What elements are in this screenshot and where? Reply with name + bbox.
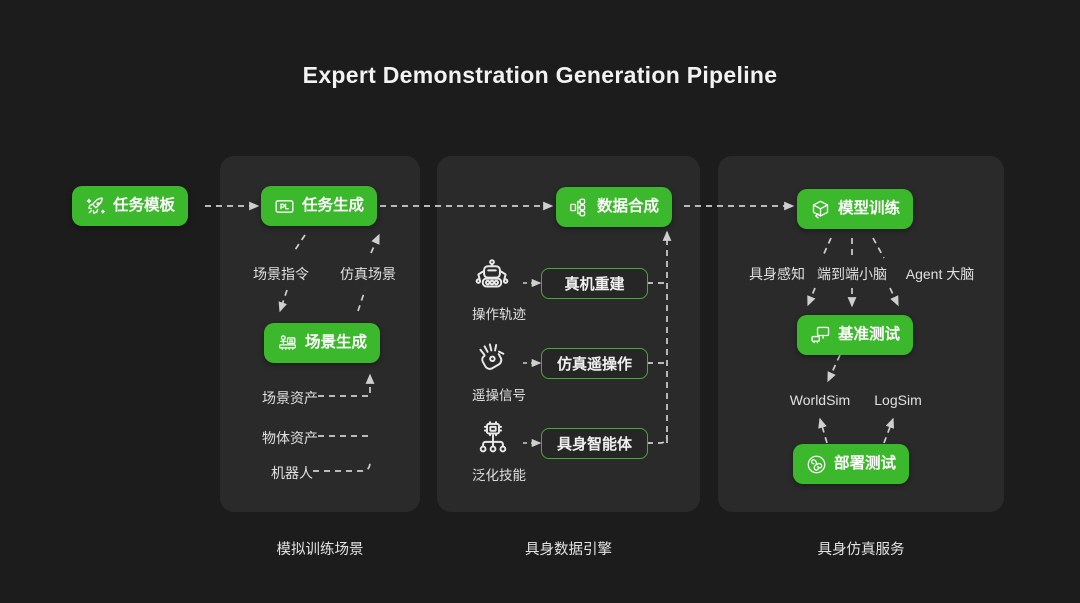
box-real-machine-reconstruction[interactable]: 真机重建: [541, 268, 648, 299]
node-label: 任务模板: [113, 198, 175, 215]
box-sim-teleoperation[interactable]: 仿真遥操作: [541, 348, 648, 379]
source-label-operation-trajectory: 操作轨迹: [466, 303, 532, 323]
node-label: 部署测试: [834, 456, 896, 473]
node-label: 任务生成: [302, 198, 364, 215]
rocket-icon: [85, 196, 106, 217]
robot-icon: [473, 258, 511, 296]
node-label: 数据合成: [597, 199, 659, 216]
sim-label-logsim: LogSim: [861, 392, 935, 408]
input-label-robot: 机器人: [236, 463, 313, 483]
source-label-teleop-signal: 遥操信号: [466, 384, 532, 404]
node-task-generation[interactable]: 任务生成: [261, 186, 377, 226]
node-data-synthesis[interactable]: 数据合成: [556, 187, 672, 227]
training-label-end-to-end-cerebellum: 端到端小脑: [810, 264, 894, 284]
node-scene-generation[interactable]: 场景生成: [264, 323, 380, 363]
node-deploy-test[interactable]: 部署测试: [793, 444, 909, 484]
input-label-object-assets: 物体资产: [236, 428, 318, 448]
caption-embodied-sim-service: 具身仿真服务: [718, 538, 1004, 559]
chip-network-icon: [475, 420, 511, 456]
pl-frame-icon: [274, 196, 295, 217]
input-label-scene-assets: 场景资产: [236, 388, 318, 408]
monitor-cart-icon: [810, 325, 831, 346]
node-task-template[interactable]: 任务模板: [72, 186, 188, 226]
node-label: 模型训练: [838, 201, 900, 218]
node-label: 场景生成: [305, 335, 367, 352]
glove-icon: [475, 339, 511, 375]
edge-label-sim-scene: 仿真场景: [327, 264, 409, 284]
caption-embodied-data-engine: 具身数据引擎: [437, 538, 700, 559]
training-label-embodied-perception: 具身感知: [735, 264, 819, 284]
box-embodied-agent[interactable]: 具身智能体: [541, 428, 648, 459]
node-model-training[interactable]: 模型训练: [797, 189, 913, 229]
node-benchmark-test[interactable]: 基准测试: [797, 315, 913, 355]
sim-label-worldsim: WorldSim: [776, 392, 864, 408]
training-label-agent-brain: Agent 大脑: [890, 264, 990, 284]
edge-label-scene-instruction: 场景指令: [240, 264, 322, 284]
cube-rotate-icon: [810, 199, 831, 220]
data-merge-icon: [569, 197, 590, 218]
diagram-canvas: Expert Demonstration Generation Pipeline: [0, 0, 1080, 603]
source-label-generalization-skill: 泛化技能: [466, 464, 532, 484]
triskelion-circle-icon: [806, 454, 827, 475]
caption-sim-training-scene: 模拟训练场景: [220, 538, 420, 559]
page-title: Expert Demonstration Generation Pipeline: [0, 62, 1080, 89]
assembly-person-icon: [277, 333, 298, 354]
node-label: 基准测试: [838, 327, 900, 344]
